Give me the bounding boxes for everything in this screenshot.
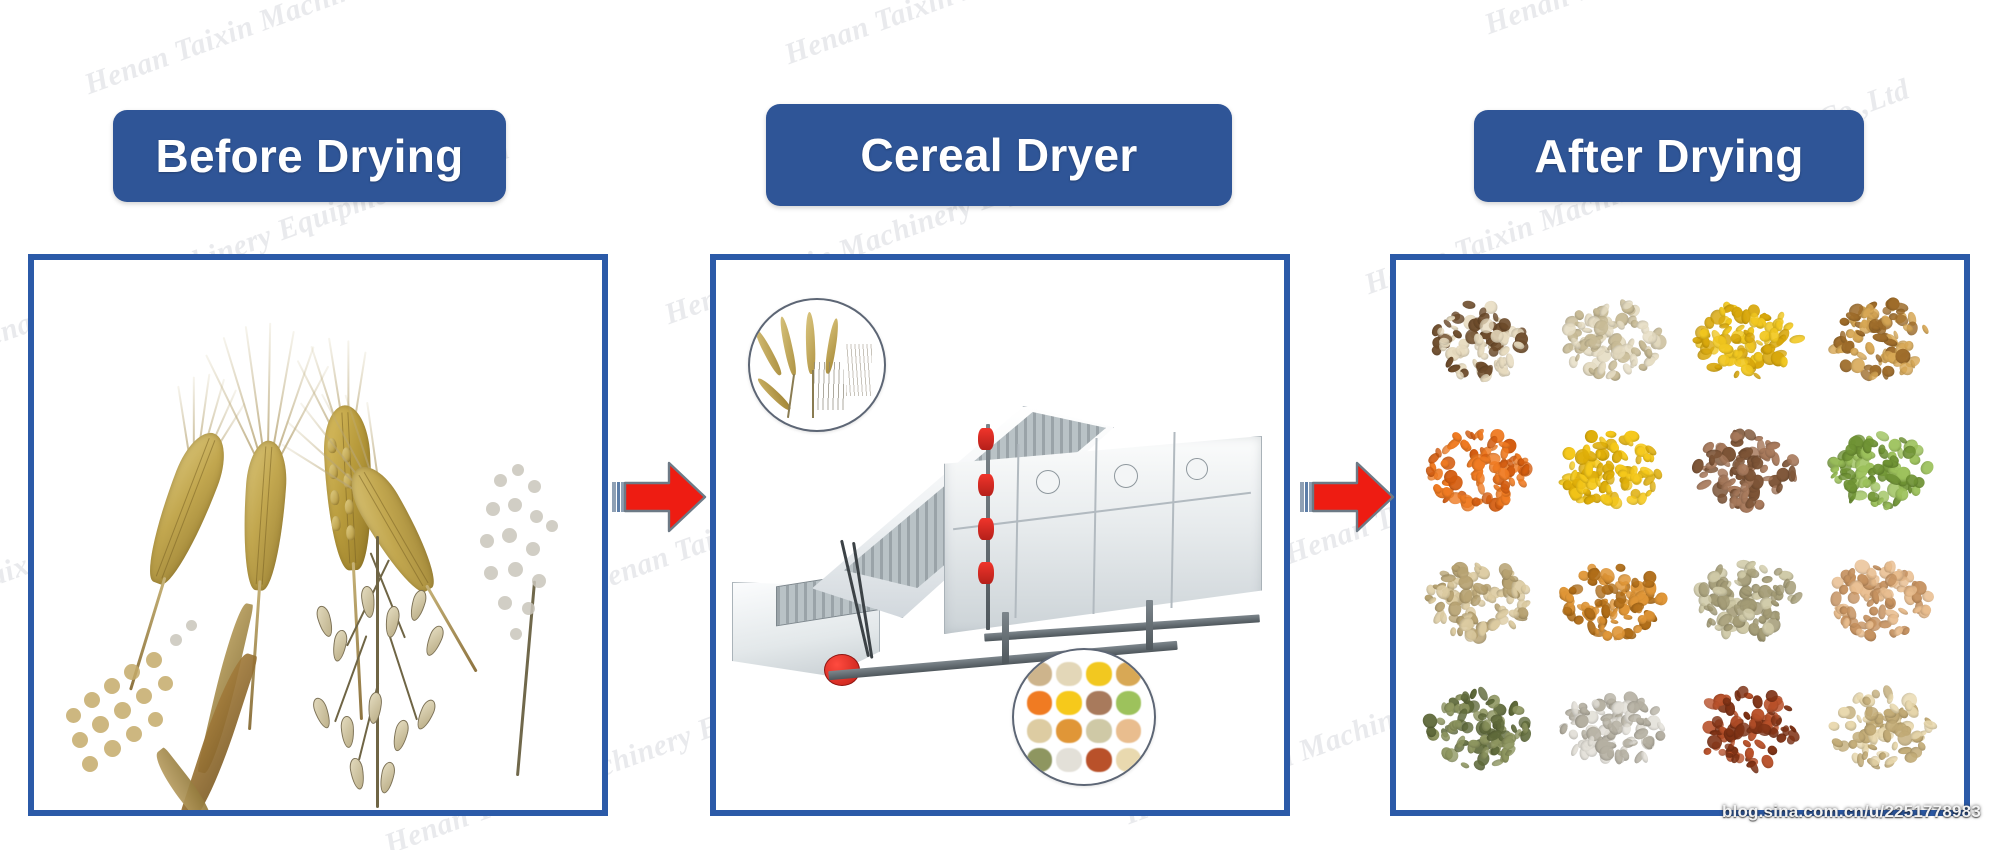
grain-pile-cell bbox=[1818, 665, 1947, 793]
grain-pile-cell bbox=[1683, 406, 1812, 534]
grain-bit bbox=[1864, 341, 1877, 356]
inset-cereal-stalks bbox=[748, 298, 886, 432]
grain-bit bbox=[1839, 330, 1846, 342]
grain-pile-cell bbox=[1683, 276, 1812, 404]
grain-bit bbox=[1904, 341, 1914, 351]
grain-pile-cell bbox=[1414, 276, 1543, 404]
grain-bit bbox=[1919, 459, 1936, 477]
grain-bit bbox=[1490, 758, 1503, 767]
grain-pile-cell bbox=[1549, 535, 1678, 663]
grain-bit bbox=[1567, 728, 1580, 741]
grain-bit bbox=[1481, 353, 1490, 361]
grain-pile-cell bbox=[1549, 665, 1678, 793]
watermark-text: Henan Taixin Machinery Equipment Co.,Ltd bbox=[1480, 0, 2003, 42]
grain-bit bbox=[1642, 579, 1655, 588]
grain-bit bbox=[1459, 438, 1470, 450]
grain-bit bbox=[1655, 730, 1667, 742]
oat-spikelet bbox=[377, 761, 396, 795]
grain-bit bbox=[1780, 356, 1789, 367]
grain-bit bbox=[1828, 721, 1841, 732]
grain-pile-wheat-grains bbox=[1556, 552, 1669, 646]
grain-bit bbox=[1569, 743, 1580, 757]
grain-bit bbox=[1512, 704, 1525, 715]
grain-pile-cell bbox=[1414, 406, 1543, 534]
grain-bit bbox=[1787, 735, 1795, 744]
grain-pile-cell bbox=[1683, 535, 1812, 663]
label-before-drying: Before Drying bbox=[113, 110, 506, 202]
grain-bit bbox=[1639, 750, 1649, 763]
grain-bit bbox=[1718, 748, 1726, 755]
grain-bit bbox=[1605, 473, 1614, 485]
grain-pile-cell bbox=[1683, 665, 1812, 793]
grain-pile-pumpkin-seeds bbox=[1422, 681, 1535, 775]
grain-bit bbox=[1462, 299, 1476, 309]
label-after-drying-text: After Drying bbox=[1534, 129, 1803, 183]
grain-bit bbox=[1752, 695, 1764, 709]
oat-spikelet bbox=[331, 629, 349, 663]
machine-badge bbox=[1036, 470, 1060, 494]
process-arrow-1 bbox=[612, 458, 708, 536]
grain-bit bbox=[1845, 721, 1855, 730]
grain-pile-buckwheat-groats bbox=[1825, 293, 1938, 387]
watermark-text: Henan Taixin Machinery Equipment Co.,Ltd bbox=[780, 0, 1334, 72]
grain-pile-barley-grains bbox=[1422, 552, 1535, 646]
valve-handle bbox=[978, 518, 994, 540]
grain-pile-rye-grains bbox=[1691, 552, 1804, 646]
grain-pile-brown-lentils bbox=[1691, 422, 1804, 516]
machine-badge bbox=[1186, 458, 1208, 480]
grain-pile-cell bbox=[1549, 406, 1678, 534]
label-after-drying: After Drying bbox=[1474, 110, 1864, 202]
label-before-drying-text: Before Drying bbox=[155, 129, 463, 183]
support-leg bbox=[1146, 600, 1153, 650]
source-url-watermark: blog.sina.com.cn/u/2251778983 bbox=[1722, 802, 1981, 822]
grain-pile-red-lentils bbox=[1422, 422, 1535, 516]
grain-pile-cell bbox=[1818, 535, 1947, 663]
support-leg bbox=[1002, 612, 1009, 664]
grain-pile-green-split-peas bbox=[1825, 422, 1938, 516]
oat-spikelet bbox=[310, 696, 333, 731]
comparison-infographic: Henan Taixin Machinery Equipment Co.,Ltd… bbox=[0, 0, 2003, 850]
grain-bit bbox=[1420, 711, 1440, 731]
grain-bit bbox=[1517, 478, 1529, 490]
grain-bit bbox=[1570, 700, 1579, 715]
grain-bit bbox=[1732, 369, 1740, 379]
grain-bit bbox=[1592, 442, 1608, 451]
grain-pile-grid bbox=[1414, 276, 1946, 792]
grain-bit bbox=[1460, 762, 1470, 770]
grain-pile-dried-vegetable-chips bbox=[1422, 293, 1535, 387]
grain-bit bbox=[1597, 302, 1611, 318]
inset-dried-grains bbox=[1012, 648, 1156, 786]
grain-pile-cell bbox=[1414, 535, 1543, 663]
grain-pile-white-rice bbox=[1556, 293, 1669, 387]
grain-bit bbox=[1617, 469, 1628, 477]
label-cereal-dryer-text: Cereal Dryer bbox=[860, 128, 1137, 182]
label-cereal-dryer: Cereal Dryer bbox=[766, 104, 1232, 206]
grain-bit bbox=[1717, 354, 1730, 367]
grain-bit bbox=[1896, 488, 1909, 501]
panel-before-drying bbox=[28, 254, 608, 816]
machine-badge bbox=[1114, 464, 1138, 488]
rice-panicle-illustration bbox=[464, 450, 594, 780]
panel-after-drying bbox=[1390, 254, 1970, 816]
grain-pile-sunflower-kernels bbox=[1556, 681, 1669, 775]
grain-bit bbox=[1696, 477, 1713, 491]
valve-handle bbox=[978, 474, 994, 496]
oat-spikelet bbox=[414, 697, 439, 732]
grain-bit bbox=[1921, 324, 1930, 335]
oat-spikelet bbox=[340, 716, 355, 749]
valve-handle bbox=[978, 562, 994, 584]
dried-grain-grid-photo bbox=[1396, 260, 1964, 810]
grain-pile-red-rice bbox=[1691, 681, 1804, 775]
oat-spikelet bbox=[314, 604, 335, 638]
grain-bit bbox=[1855, 714, 1863, 724]
grain-pile-crushed-oats bbox=[1825, 681, 1938, 775]
oat-spikelet bbox=[422, 624, 446, 659]
dryer-machine-photo bbox=[716, 260, 1284, 810]
grain-pile-cell bbox=[1818, 276, 1947, 404]
oat-spikelet bbox=[348, 757, 366, 791]
grain-bit bbox=[1450, 627, 1457, 637]
grain-bit bbox=[1845, 443, 1858, 456]
grain-bit bbox=[1753, 738, 1768, 751]
grain-pile-cell bbox=[1818, 406, 1947, 534]
grain-bit bbox=[1788, 334, 1805, 345]
grain-pile-yellow-split-peas bbox=[1556, 422, 1669, 516]
grain-bit bbox=[1769, 327, 1779, 343]
grain-pile-cell bbox=[1549, 276, 1678, 404]
millet-panicle-illustration bbox=[58, 590, 278, 816]
grain-pile-yellow-millet bbox=[1691, 293, 1804, 387]
process-arrow-2 bbox=[1300, 458, 1396, 536]
grain-bit bbox=[1623, 615, 1633, 620]
inset-grain-grid bbox=[1027, 662, 1142, 772]
cereal-plants-illustration bbox=[34, 260, 602, 810]
oat-spikelet bbox=[384, 605, 401, 638]
watermark-text: Henan Taixin Machinery Equipment Co.,Ltd bbox=[80, 0, 634, 102]
grain-bit bbox=[1650, 481, 1656, 492]
oat-spikelet bbox=[367, 691, 383, 724]
panel-cereal-dryer bbox=[710, 254, 1290, 816]
grain-bit bbox=[1904, 700, 1912, 711]
oat-spikelet bbox=[407, 588, 428, 622]
grain-bit bbox=[1606, 430, 1618, 438]
grain-bit bbox=[1574, 354, 1581, 363]
grain-bit bbox=[1761, 575, 1773, 584]
valve-handle bbox=[978, 428, 994, 450]
grain-bit bbox=[1498, 356, 1505, 369]
grain-bit bbox=[1712, 701, 1720, 710]
grain-pile-cell bbox=[1414, 665, 1543, 793]
grain-bit bbox=[1615, 563, 1626, 573]
oat-spikelet bbox=[390, 718, 410, 752]
oat-panicle-illustration bbox=[284, 510, 484, 810]
grain-pile-chickpeas bbox=[1825, 552, 1938, 646]
grain-bit bbox=[1783, 704, 1794, 713]
